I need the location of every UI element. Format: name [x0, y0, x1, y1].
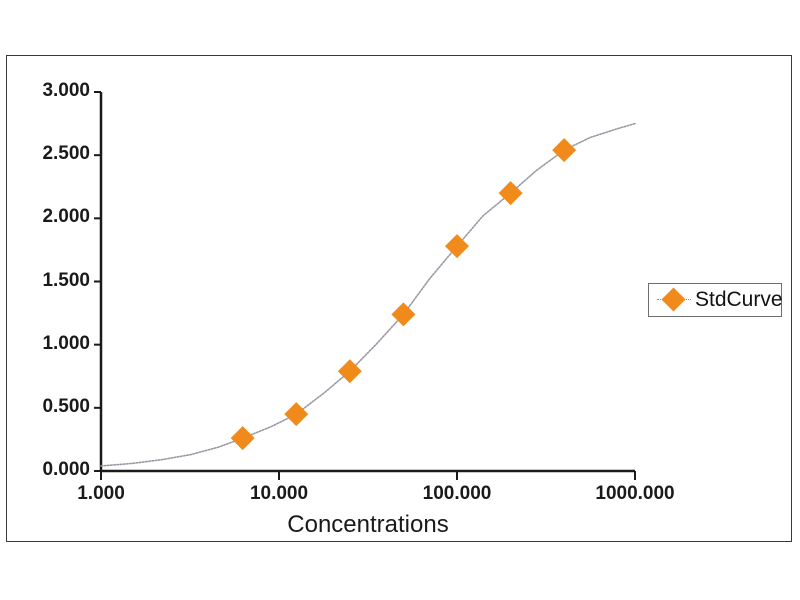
std-curve-markers: [231, 138, 577, 450]
x-axis-ticks: [101, 471, 635, 480]
data-point-marker[interactable]: [445, 234, 469, 258]
x-tick-label: 10.000: [204, 483, 354, 505]
y-tick-label: 0.000: [0, 459, 90, 481]
y-tick-label: 1.000: [0, 333, 90, 355]
data-point-marker[interactable]: [284, 402, 308, 426]
y-tick-label: 2.000: [0, 206, 90, 228]
x-axis-title: Concentrations: [101, 511, 635, 539]
data-point-marker[interactable]: [552, 138, 576, 162]
x-tick-label: 100.000: [382, 483, 532, 505]
chart-container: 0.0000.5001.0001.5002.0002.5003.000 1.00…: [0, 0, 800, 600]
y-tick-label: 0.500: [0, 396, 90, 418]
y-tick-label: 3.000: [0, 80, 90, 102]
x-tick-label: 1000.000: [560, 483, 710, 505]
legend[interactable]: StdCurve: [648, 283, 782, 317]
y-tick-label: 2.500: [0, 143, 90, 165]
y-tick-label: 1.500: [0, 270, 90, 292]
std-curve-line: [101, 124, 635, 466]
x-tick-label: 1.000: [26, 483, 176, 505]
legend-marker-stdcurve: [657, 288, 691, 312]
legend-label-stdcurve: StdCurve: [695, 288, 783, 312]
data-point-marker[interactable]: [231, 426, 255, 450]
diamond-marker-icon: [661, 287, 685, 311]
